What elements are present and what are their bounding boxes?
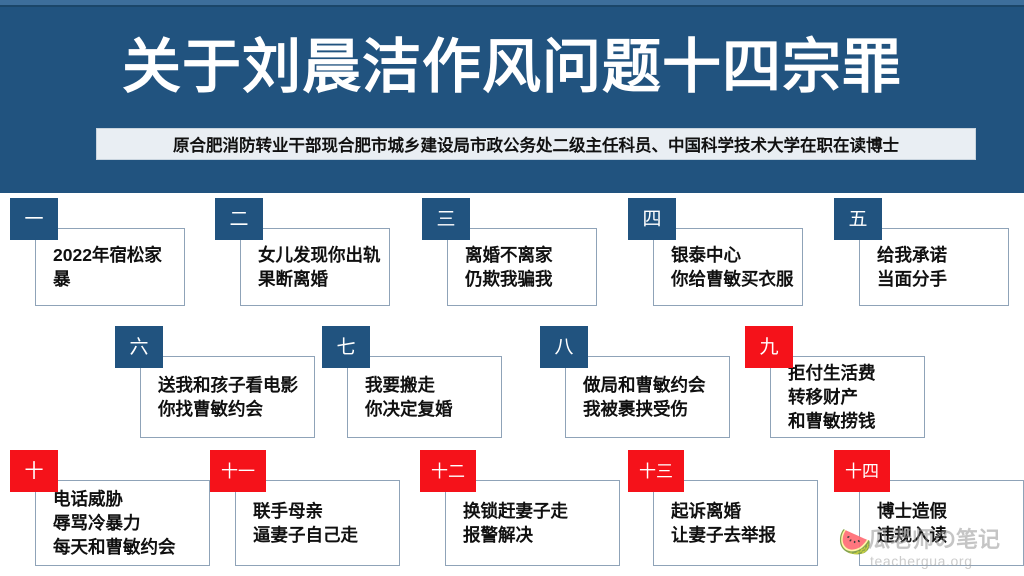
- subtitle-bar: 原合肥消防转业干部现合肥市城乡建设局市政公务处二级主任科员、中国科学技术大学在职…: [96, 128, 976, 160]
- item-text: 起诉离婚 让妻子去举报: [654, 499, 782, 547]
- page-title: 关于刘晨洁作风问题十四宗罪: [0, 30, 1024, 104]
- item-card: 拒付生活费 转移财产 和曹敏捞钱: [770, 356, 925, 438]
- item-card: 送我和孩子看电影 你找曹敏约会: [140, 356, 315, 438]
- item-number-badge: 二: [215, 198, 263, 240]
- item-text: 2022年宿松家暴: [36, 243, 184, 291]
- item-text: 给我承诺 当面分手: [860, 243, 953, 291]
- accusation-board: 2022年宿松家暴一女儿发现你出轨 果断离婚二离婚不离家 仍欺我骗我三银泰中心 …: [0, 193, 1024, 576]
- item-number-badge: 十四: [834, 450, 890, 492]
- item-number-badge: 八: [540, 326, 588, 368]
- item-text: 女儿发现你出轨 果断离婚: [241, 243, 387, 291]
- item-text: 电话威胁 辱骂冷暴力 每天和曹敏约会: [36, 487, 182, 559]
- item-number-badge: 三: [422, 198, 470, 240]
- item-text: 离婚不离家 仍欺我骗我: [448, 243, 559, 291]
- item-number-badge: 十: [10, 450, 58, 492]
- item-card: 起诉离婚 让妻子去举报: [653, 480, 818, 566]
- item-number-badge: 六: [115, 326, 163, 368]
- item-text: 送我和孩子看电影 你找曹敏约会: [141, 373, 304, 421]
- item-text: 拒付生活费 转移财产 和曹敏捞钱: [771, 361, 882, 433]
- item-number-badge: 五: [834, 198, 882, 240]
- item-number-badge: 十一: [210, 450, 266, 492]
- item-number-badge: 九: [745, 326, 793, 368]
- item-number-badge: 一: [10, 198, 58, 240]
- item-card: 做局和曹敏约会 我被裹挟受伤: [565, 356, 730, 438]
- item-text: 银泰中心 你给曹敏买衣服: [654, 243, 800, 291]
- item-number-badge: 十二: [420, 450, 476, 492]
- poster-root: 关于刘晨洁作风问题十四宗罪 原合肥消防转业干部现合肥市城乡建设局市政公务处二级主…: [0, 0, 1024, 576]
- item-text: 博士造假 违规入读: [860, 499, 953, 547]
- item-number-badge: 四: [628, 198, 676, 240]
- item-card: 博士造假 违规入读: [859, 480, 1024, 566]
- header-top-rule-shadow: [0, 5, 1024, 7]
- header-banner: 关于刘晨洁作风问题十四宗罪 原合肥消防转业干部现合肥市城乡建设局市政公务处二级主…: [0, 0, 1024, 193]
- item-number-badge: 十三: [628, 450, 684, 492]
- item-text: 换锁赶妻子走 报警解决: [446, 499, 574, 547]
- item-text: 联手母亲 逼妻子自己走: [236, 499, 364, 547]
- item-card: 联手母亲 逼妻子自己走: [235, 480, 400, 566]
- item-card: 我要搬走 你决定复婚: [347, 356, 502, 438]
- item-card: 换锁赶妻子走 报警解决: [445, 480, 620, 566]
- item-card: 电话威胁 辱骂冷暴力 每天和曹敏约会: [35, 480, 210, 566]
- item-number-badge: 七: [322, 326, 370, 368]
- item-text: 做局和曹敏约会 我被裹挟受伤: [566, 373, 712, 421]
- subtitle-text: 原合肥消防转业干部现合肥市城乡建设局市政公务处二级主任科员、中国科学技术大学在职…: [173, 132, 899, 156]
- item-text: 我要搬走 你决定复婚: [348, 373, 459, 421]
